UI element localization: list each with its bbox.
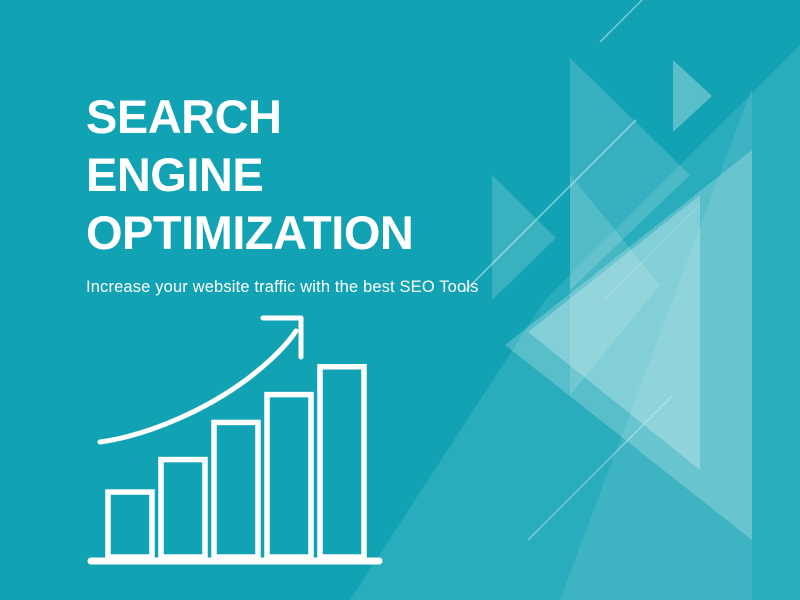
chart-bar xyxy=(267,395,311,557)
seo-banner: SEARCH ENGINE OPTIMIZATION Increase your… xyxy=(0,0,800,600)
page-title: SEARCH ENGINE OPTIMIZATION xyxy=(86,88,506,262)
subtitle-text: Increase your website traffic with the b… xyxy=(86,276,479,298)
chart-bar xyxy=(214,422,258,557)
chart-bar xyxy=(320,367,364,557)
content-layer: SEARCH ENGINE OPTIMIZATION Increase your… xyxy=(0,0,800,600)
chart-bar xyxy=(161,460,205,557)
headline-line-1: SEARCH xyxy=(86,88,506,146)
bars-group xyxy=(108,367,364,557)
headline-line-3: OPTIMIZATION xyxy=(86,204,506,262)
chart-bar xyxy=(108,492,152,557)
headline-line-2: ENGINE xyxy=(86,146,506,204)
growth-bar-chart-graphic xyxy=(80,305,400,575)
